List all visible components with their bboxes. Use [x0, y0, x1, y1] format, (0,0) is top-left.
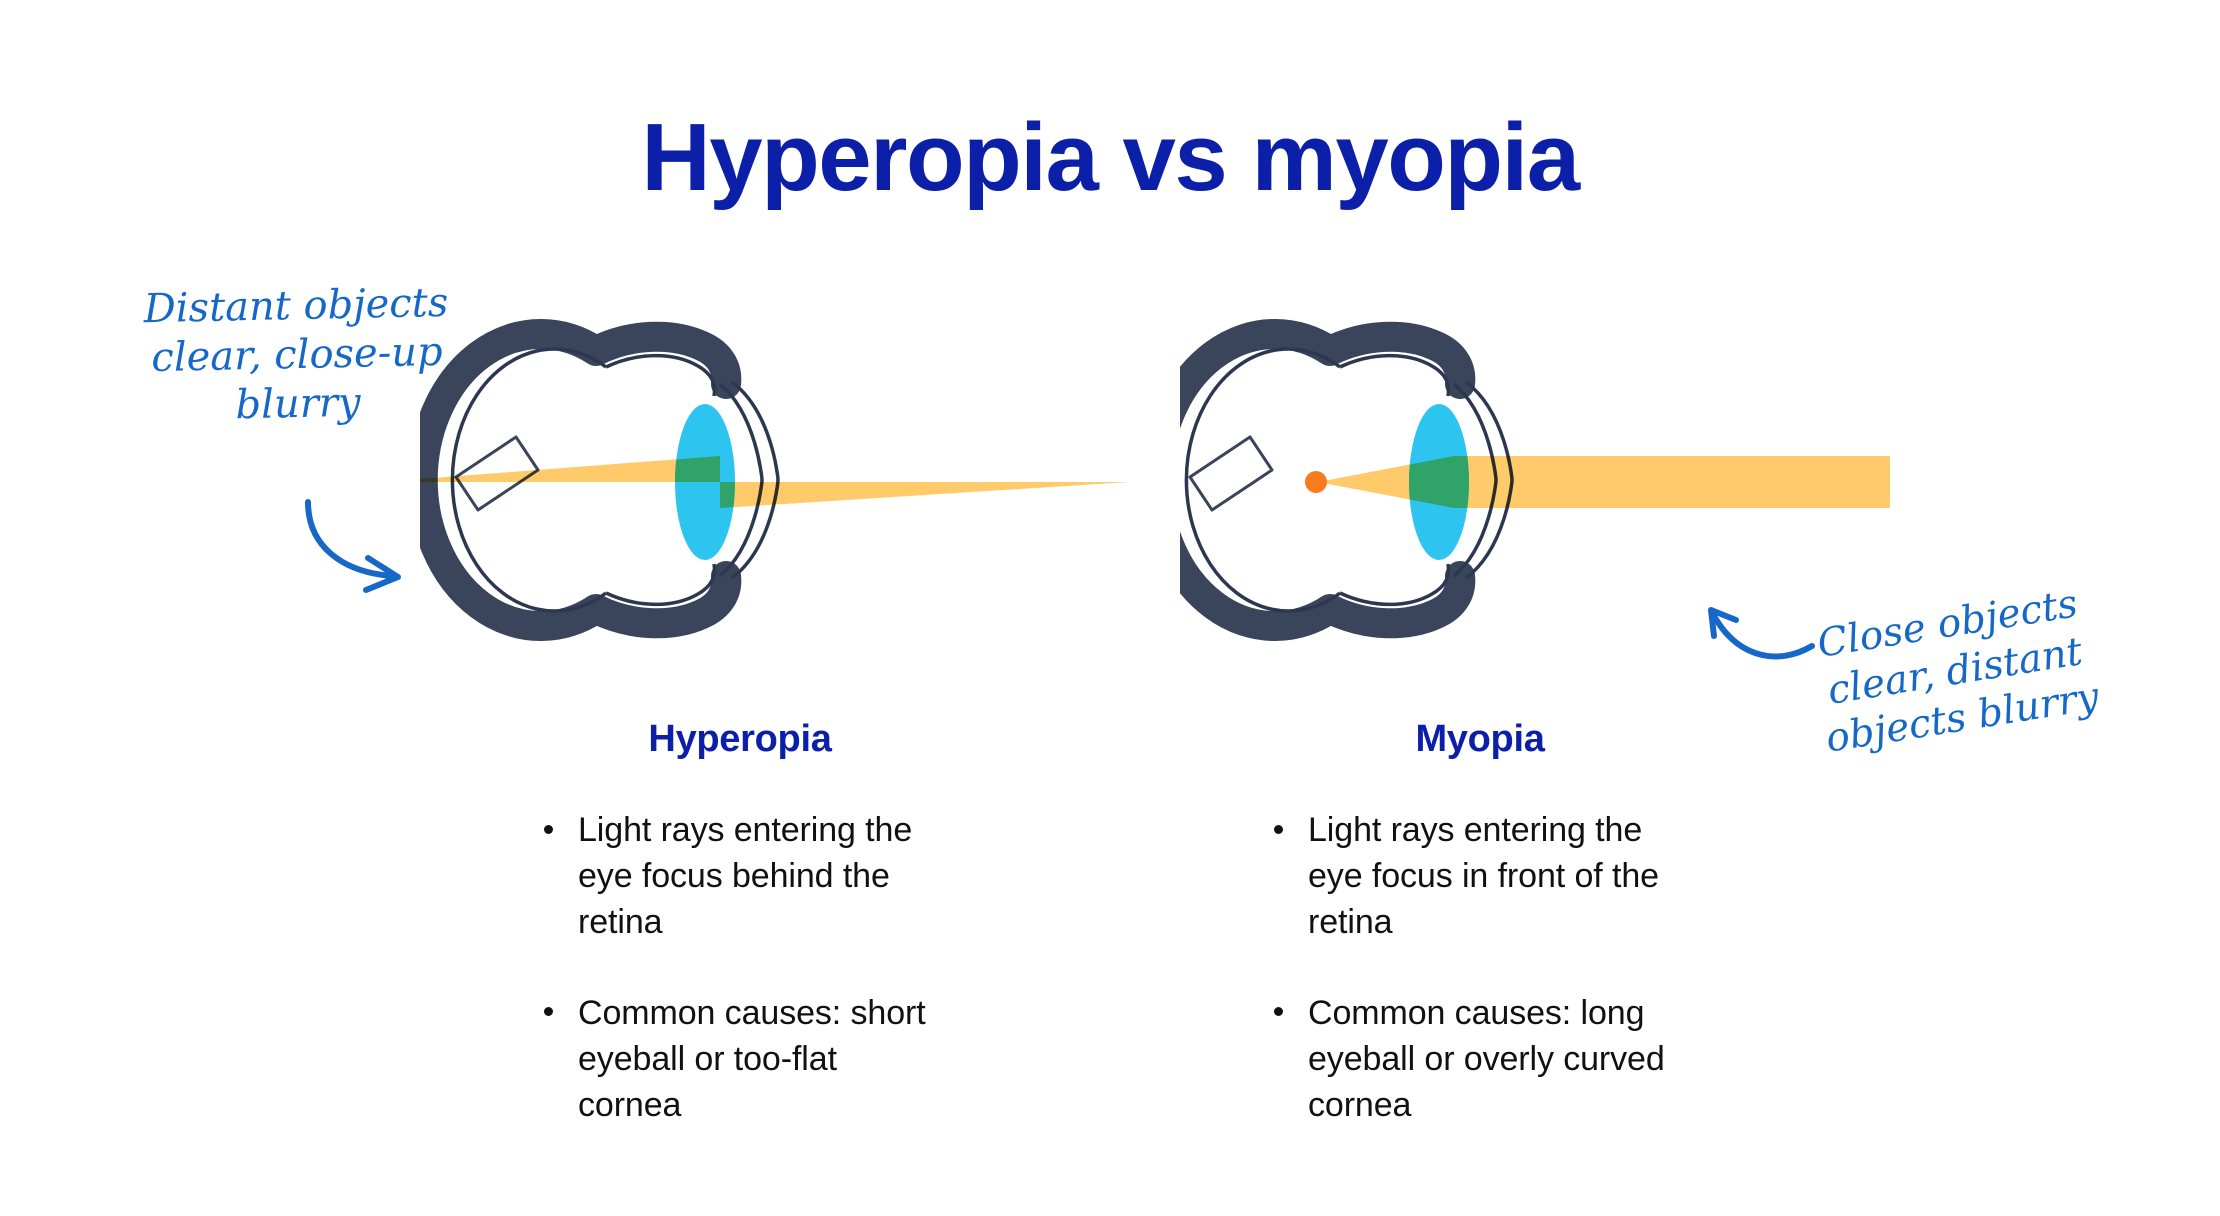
- myopia-eye-diagram: [1180, 310, 1940, 650]
- bullet-dot-icon: [1274, 1007, 1283, 1016]
- bullet-list-hyperopia: Light rays entering the eye focus behind…: [540, 807, 940, 1128]
- list-item: Light rays entering the eye focus in fro…: [1270, 807, 1690, 946]
- optic-nerve: [1190, 437, 1272, 510]
- list-item: Common causes: long eyeball or overly cu…: [1270, 990, 1690, 1129]
- list-item: Common causes: short eyeball or too-flat…: [540, 990, 940, 1129]
- column-myopia: Myopia Light rays entering the eye focus…: [1270, 718, 1690, 1128]
- hyperopia-eye-diagram: [420, 310, 1160, 650]
- light-beam: [1318, 456, 1890, 508]
- bullet-text: Common causes: short eyeball or too-flat…: [578, 994, 926, 1124]
- column-heading-hyperopia: Hyperopia: [540, 718, 940, 761]
- column-hyperopia: Hyperopia Light rays entering the eye fo…: [540, 718, 940, 1128]
- bullet-dot-icon: [544, 1007, 553, 1016]
- column-heading-myopia: Myopia: [1270, 718, 1690, 761]
- focal-point: [1305, 471, 1327, 493]
- list-item: Light rays entering the eye focus behind…: [540, 807, 940, 946]
- bullet-text: Light rays entering the eye focus in fro…: [1308, 811, 1659, 941]
- page-title: Hyperopia vs myopia: [0, 108, 2220, 209]
- slide-canvas: Hyperopia vs myopia Distant objects clea…: [0, 0, 2220, 1216]
- bullet-text: Common causes: long eyeball or overly cu…: [1308, 994, 1665, 1124]
- annotation-left-text: Distant objects clear, close-up blurry: [131, 279, 464, 432]
- curved-arrow-right-down-icon: [300, 494, 430, 604]
- bullet-list-myopia: Light rays entering the eye focus in fro…: [1270, 807, 1690, 1128]
- bullet-dot-icon: [544, 825, 553, 834]
- bullet-text: Light rays entering the eye focus behind…: [578, 811, 912, 941]
- bullet-dot-icon: [1274, 825, 1283, 834]
